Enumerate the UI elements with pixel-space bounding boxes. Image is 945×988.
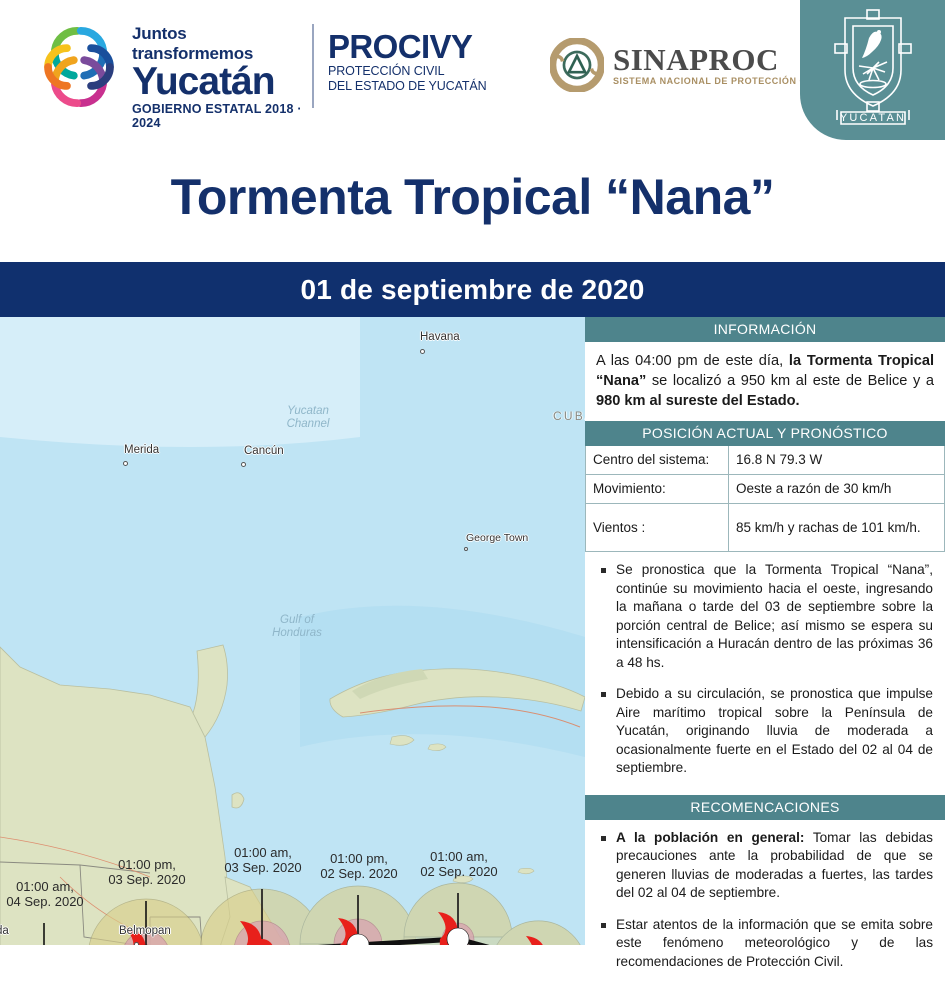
procivy-subtitle-line1: PROTECCIÓN CIVIL bbox=[328, 64, 487, 79]
table-value-centro: 16.8 N 79.3 W bbox=[729, 446, 945, 475]
procivy-logo: PROCIVY PROTECCIÓN CIVIL DEL ESTADO DE Y… bbox=[328, 30, 487, 94]
table-row: Movimiento: Oeste a razón de 30 km/h bbox=[586, 475, 945, 504]
page-header: Juntos transformemos Yucatán GOBIERNO ES… bbox=[0, 0, 945, 160]
section-header-posicion: POSICIÓN ACTUAL Y PRONÓSTICO bbox=[585, 421, 945, 446]
list-item: Debido a su circulación, se pronostica q… bbox=[599, 685, 933, 778]
table-row: Centro del sistema: 16.8 N 79.3 W bbox=[586, 446, 945, 475]
city-label-havana: Havana bbox=[420, 331, 460, 343]
city-dot-cancun bbox=[241, 462, 246, 467]
list-item: Estar atentos de la información que se e… bbox=[599, 916, 933, 972]
table-value-movimiento: Oeste a razón de 30 km/h bbox=[729, 475, 945, 504]
recommendation-bold-0: A la población en general: bbox=[616, 830, 804, 845]
table-value-vientos: 85 km/h y rachas de 101 km/h. bbox=[729, 504, 945, 552]
section-header-recomendaciones: RECOMENCACIONES bbox=[585, 795, 945, 820]
sea-label-yucatan-channel: YucatanChannel bbox=[268, 405, 348, 431]
list-item: Se pronostica que la Tormenta Tropical “… bbox=[599, 561, 933, 672]
yucatan-government-logo: Juntos transformemos Yucatán GOBIERNO ES… bbox=[36, 22, 306, 112]
storm-track-map[interactable]: YucatanChannel Gulf ofHonduras Havana CU… bbox=[0, 317, 585, 945]
city-label-merida: Merida bbox=[124, 444, 159, 456]
city-dot-george-town bbox=[464, 547, 468, 551]
informacion-text: A las 04:00 pm de este día, la Tormenta … bbox=[585, 342, 945, 421]
page-title: Tormenta Tropical “Nana” bbox=[0, 168, 945, 226]
sinaproc-subtitle: SISTEMA NACIONAL DE PROTECCIÓN CIVIL bbox=[613, 76, 825, 87]
date-banner: 01 de septiembre de 2020 bbox=[0, 262, 945, 317]
sinaproc-emblem-icon bbox=[550, 38, 604, 92]
section-header-informacion: INFORMACIÓN bbox=[585, 317, 945, 342]
procivy-title: PROCIVY bbox=[328, 30, 487, 64]
country-label-cuba: CUBA bbox=[553, 409, 585, 423]
table-key-movimiento: Movimiento: bbox=[586, 475, 729, 504]
yucatan-logo-line1: Juntos transformemos bbox=[132, 24, 312, 64]
recommendation-bullets: A la población en general: Tomar las deb… bbox=[585, 820, 945, 988]
sea-label-gulf-of-honduras: Gulf ofHonduras bbox=[252, 614, 342, 640]
sinaproc-title: SINAPROC bbox=[613, 44, 825, 76]
header-divider bbox=[312, 24, 314, 108]
table-key-vientos: Vientos : bbox=[586, 504, 729, 552]
yucatan-weave-mark bbox=[36, 24, 122, 110]
table-key-centro: Centro del sistema: bbox=[586, 446, 729, 475]
info-panel: INFORMACIÓN A las 04:00 pm de este día, … bbox=[585, 317, 945, 945]
track-label-4: 01:00 am,02 Sep. 2020 bbox=[398, 849, 520, 879]
recommendation-rest-1: Estar atentos de la información que se e… bbox=[616, 917, 933, 969]
yucatan-shield-panel: YUCATAN bbox=[800, 0, 945, 140]
forecast-bullets: Se pronostica que la Tormenta Tropical “… bbox=[585, 552, 945, 795]
city-dot-merida bbox=[123, 461, 128, 466]
list-item: A la población en general: Tomar las deb… bbox=[599, 829, 933, 903]
procivy-subtitle-line2: DEL ESTADO DE YUCATÁN bbox=[328, 79, 487, 94]
yucatan-logo-line2: Yucatán bbox=[132, 62, 312, 101]
track-label-1: 01:00 pm,03 Sep. 2020 bbox=[86, 857, 208, 887]
yucatan-logo-line3: GOBIERNO ESTATAL 2018 · 2024 bbox=[132, 102, 312, 130]
partial-city-label-tuxtla: da bbox=[0, 925, 9, 937]
shield-label: YUCATAN bbox=[839, 112, 905, 124]
city-label-cancun: Cancún bbox=[244, 445, 284, 457]
city-label-belmopan: Belmopan bbox=[119, 925, 171, 937]
posicion-table: Centro del sistema: 16.8 N 79.3 W Movimi… bbox=[585, 446, 945, 552]
city-label-george-town: George Town bbox=[466, 532, 528, 544]
table-row: Vientos : 85 km/h y rachas de 101 km/h. bbox=[586, 504, 945, 552]
sinaproc-logo: SINAPROC SISTEMA NACIONAL DE PROTECCIÓN … bbox=[550, 38, 825, 92]
city-dot-havana bbox=[420, 349, 425, 354]
yucatan-coat-of-arms-icon: YUCATAN bbox=[825, 8, 921, 128]
